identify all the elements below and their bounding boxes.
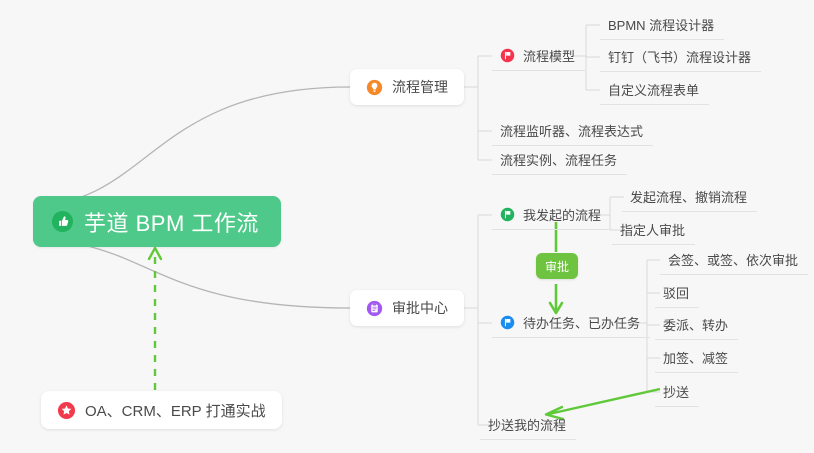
flag-green-icon	[500, 207, 515, 222]
arrow-note-head	[149, 248, 161, 259]
approval-tag-label: 审批	[545, 258, 569, 275]
root-node[interactable]: 芋道 BPM 工作流	[33, 196, 281, 247]
node-cc-label: 抄送	[663, 382, 689, 401]
node-cc-to-me-label: 抄送我的流程	[488, 415, 566, 434]
node-multi-sign-label: 会签、或签、依次审批	[668, 250, 798, 269]
note-label: OA、CRM、ERP 打通实战	[85, 400, 266, 421]
flag-red-icon	[500, 48, 515, 63]
edge-root-to-process-management	[33, 87, 350, 205]
node-listener-expression-label: 流程监听器、流程表达式	[500, 121, 643, 140]
node-instance-task-label: 流程实例、流程任务	[500, 150, 617, 169]
node-process-model-label: 流程模型	[523, 46, 575, 65]
flag-blue-icon	[500, 315, 515, 330]
branch-approval-center-label: 审批中心	[392, 298, 448, 318]
clipboard-icon	[366, 300, 383, 317]
branch-approval-center[interactable]: 审批中心	[350, 290, 464, 326]
node-multi-sign[interactable]: 会签、或签、依次审批	[660, 245, 808, 275]
thumbs-up-icon	[51, 210, 74, 233]
node-dingtalk-designer[interactable]: 钉钉（飞书）流程设计器	[600, 42, 761, 72]
note-node[interactable]: OA、CRM、ERP 打通实战	[41, 391, 282, 429]
branch-process-management-label: 流程管理	[392, 77, 448, 97]
edge-root-to-approval-center	[33, 240, 350, 308]
node-reject-label: 驳回	[663, 283, 689, 302]
node-start-cancel-label: 发起流程、撤销流程	[630, 187, 747, 206]
lightbulb-icon	[366, 79, 383, 96]
star-icon	[57, 401, 76, 420]
node-todo-done-label: 待办任务、已办任务	[523, 313, 640, 332]
node-assignee-approve-label: 指定人审批	[620, 220, 685, 239]
node-bpmn-designer-label: BPMN 流程设计器	[608, 15, 714, 34]
node-my-started[interactable]: 我发起的流程	[492, 200, 611, 230]
node-add-remove-sign[interactable]: 加签、减签	[655, 343, 738, 373]
root-label: 芋道 BPM 工作流	[84, 206, 259, 238]
node-process-model[interactable]: 流程模型	[492, 41, 585, 71]
node-delegate-transfer[interactable]: 委派、转办	[655, 310, 738, 340]
node-assignee-approve[interactable]: 指定人审批	[612, 215, 695, 245]
node-cc[interactable]: 抄送	[655, 377, 699, 407]
node-reject[interactable]: 驳回	[655, 278, 699, 308]
mindmap-canvas: 芋道 BPM 工作流 流程管理 审批中心	[0, 0, 814, 453]
node-bpmn-designer[interactable]: BPMN 流程设计器	[600, 10, 724, 40]
approval-tag[interactable]: 审批	[536, 253, 578, 279]
node-todo-done[interactable]: 待办任务、已办任务	[492, 308, 650, 338]
node-start-cancel[interactable]: 发起流程、撤销流程	[622, 182, 757, 212]
node-custom-form[interactable]: 自定义流程表单	[600, 75, 709, 105]
node-delegate-transfer-label: 委派、转办	[663, 315, 728, 334]
node-listener-expression[interactable]: 流程监听器、流程表达式	[492, 116, 653, 146]
node-add-remove-sign-label: 加签、减签	[663, 348, 728, 367]
node-cc-to-me[interactable]: 抄送我的流程	[480, 410, 576, 440]
branch-process-management[interactable]: 流程管理	[350, 69, 464, 105]
node-my-started-label: 我发起的流程	[523, 205, 601, 224]
node-custom-form-label: 自定义流程表单	[608, 80, 699, 99]
node-dingtalk-designer-label: 钉钉（飞书）流程设计器	[608, 47, 751, 66]
node-instance-task[interactable]: 流程实例、流程任务	[492, 145, 627, 175]
